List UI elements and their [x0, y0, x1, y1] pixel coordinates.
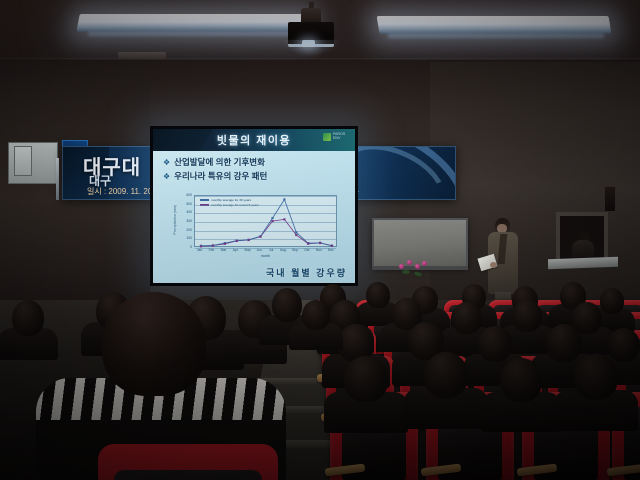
chart-plot-area: monthly average for 30 yearsmonthly aver… [194, 195, 337, 247]
audience-head-26 [302, 300, 330, 330]
chart-x-tick: Jul. [266, 248, 278, 252]
chart-x-ticks: Jan.Feb.Mar.Apr.MayJun.Jul.Aug.Sep.Oct.N… [194, 248, 337, 252]
audience-head-17 [344, 356, 388, 402]
chart-y-tick: 300 [186, 219, 192, 223]
chart-x-tick: Feb. [206, 248, 218, 252]
chart-x-tick: Aug. [277, 248, 289, 252]
slide-bullet: ❖우리나라 특유의 강우 패턴 [163, 171, 353, 182]
chart-series-svg [195, 196, 338, 248]
foreground-seat-inner [114, 470, 262, 480]
chart-x-tick: Mar. [218, 248, 230, 252]
chart-x-tick: Jun. [254, 248, 266, 252]
audience-head-10 [512, 300, 542, 332]
chart-x-tick: Sep. [289, 248, 301, 252]
bullet-marker-icon: ❖ [163, 171, 170, 182]
chart-y-ticks: 0100200300400500600 [181, 195, 193, 247]
chart-y-axis-label: Precipitation (mm) [173, 205, 181, 234]
flower-icon [415, 264, 420, 269]
star-icon: ★ [82, 444, 90, 453]
rainfall-chart: Precipitation (mm) 0100200300400500600 m… [175, 195, 341, 261]
leaf-logo-icon [323, 133, 331, 141]
slide-title: 빗물의 재이용 [217, 132, 291, 148]
chart-x-tick: Jan. [194, 248, 206, 252]
slide-bullet-label: 우리나라 특유의 강우 패턴 [174, 171, 267, 182]
audience-head-14 [478, 326, 512, 362]
lamp-right-glow [388, 33, 604, 38]
chart-x-tick: Dec. [325, 248, 337, 252]
slide: 빗물의 재이용 PAROSENV ❖산업발달에 의한 기후변화❖우리나라 특유의… [153, 129, 355, 283]
chart-x-tick: May [242, 248, 254, 252]
leaf-icon [414, 271, 423, 277]
chart-y-tick: 400 [186, 210, 192, 214]
chart-x-tick: Apr. [230, 248, 242, 252]
chart-y-tick: 200 [186, 228, 192, 232]
lamp-left-glow [88, 31, 302, 36]
foreground-person-head [102, 292, 206, 396]
slide-logo: PAROSENV [323, 131, 351, 143]
chart-y-tick: 500 [186, 202, 192, 206]
audience-head-15 [546, 324, 582, 362]
audience-head-19 [500, 358, 542, 402]
star-icon: ★ [44, 452, 53, 462]
audience-head-16 [608, 328, 640, 362]
projector-light-beam [282, 40, 340, 56]
slide-caption: 국내 월별 강우량 [266, 266, 347, 279]
ceiling-seam [0, 58, 640, 59]
person-in-striped-star-jacket: ★ ★ ★ ★ ★ ★ [36, 292, 286, 480]
presenter-hand [490, 262, 497, 268]
chart-y-tick: 100 [186, 236, 192, 240]
slide-bullet-list: ❖산업발달에 의한 기후변화❖우리나라 특유의 강우 패턴 [163, 157, 353, 185]
fluorescent-lamp-left-icon [76, 14, 309, 32]
slide-bullet: ❖산업발달에 의한 기후변화 [163, 157, 353, 168]
bullet-marker-icon: ❖ [163, 157, 170, 168]
fluorescent-lamp-right-icon [377, 16, 612, 34]
leaf-icon [402, 270, 410, 274]
projection-control-booth [556, 212, 608, 264]
orchid-flower-arrangement [396, 258, 432, 278]
audience-head-20 [574, 354, 618, 400]
chart-y-tick: 600 [186, 193, 192, 197]
flower-icon [399, 264, 404, 269]
lecture-hall-photo: 대구대 대구 일시 : 2009. 11. 20 발표회 발표회 : 대구대학교… [0, 0, 640, 480]
flower-icon [407, 260, 412, 265]
audience-head-6 [600, 288, 624, 314]
flower-icon [422, 261, 427, 266]
banner-date: 일시 : 2009. 11. 20 [87, 186, 152, 197]
projection-screen: 빗물의 재이용 PAROSENV ❖산업발달에 의한 기후변화❖우리나라 특유의… [150, 126, 358, 286]
chart-x-axis-label: month [194, 254, 337, 258]
ceiling-vent [118, 52, 166, 59]
audience-head-1 [366, 282, 390, 308]
wall-poster-left-inner [14, 146, 32, 176]
chart-y-tick: 0 [190, 245, 192, 249]
audience-head-18 [424, 352, 468, 398]
chart-x-tick: Oct. [301, 248, 313, 252]
slide-bullet-label: 산업발달에 의한 기후변화 [174, 157, 265, 168]
star-icon: ★ [242, 434, 251, 444]
chart-x-tick: Nov. [313, 248, 325, 252]
star-icon: ★ [54, 430, 65, 442]
foreground-seat [98, 444, 278, 480]
wall-tube [56, 158, 59, 200]
slide-logo-text: PAROSENV [333, 133, 345, 141]
wall-speaker [604, 186, 616, 212]
audience-head-9 [452, 302, 482, 334]
